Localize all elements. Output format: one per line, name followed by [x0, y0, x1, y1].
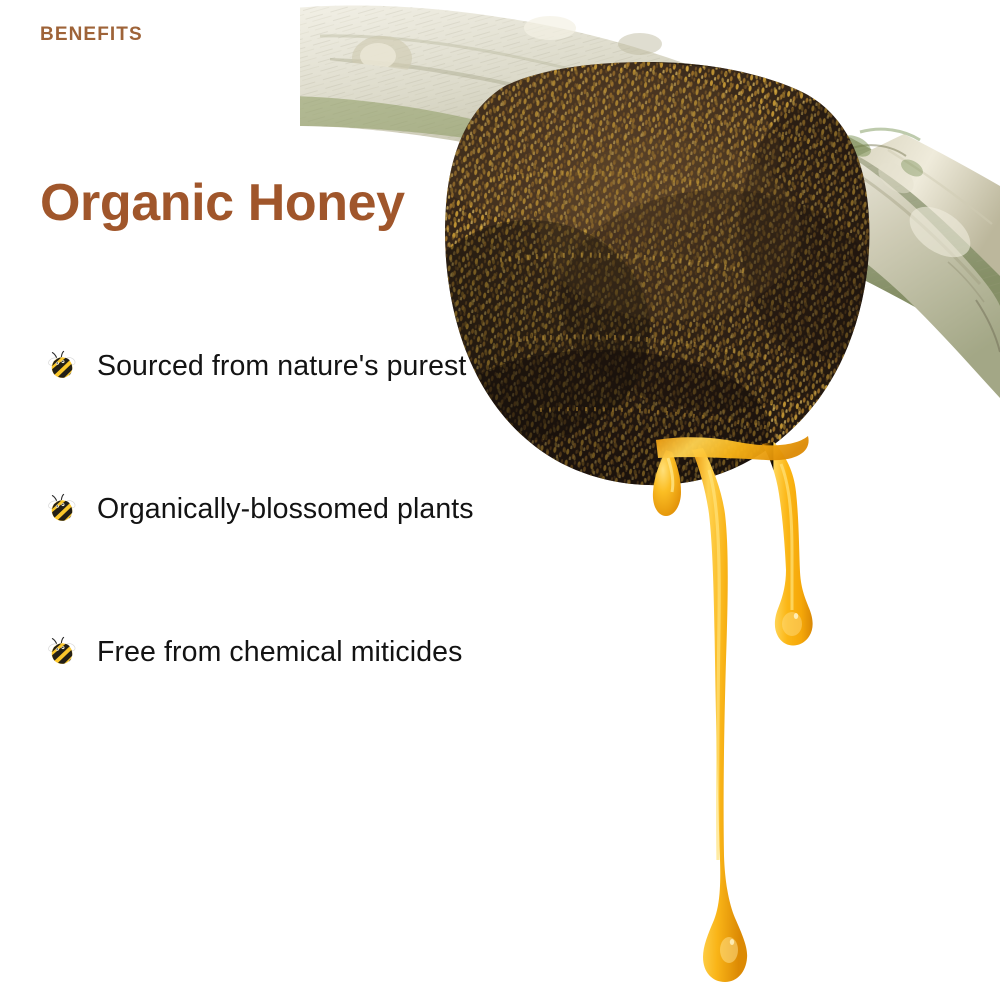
eyebrow-label: BENEFITS — [40, 24, 143, 46]
list-item: Organically-blossomed plants — [40, 473, 560, 545]
bee-icon — [45, 349, 79, 383]
benefit-label: Organically-blossomed plants — [97, 492, 474, 526]
benefits-list: Sourced from nature's purest — [40, 330, 560, 688]
list-item: Sourced from nature's purest — [40, 330, 560, 402]
list-item: Free from chemical miticides — [40, 616, 560, 688]
page-title: Organic Honey — [40, 173, 405, 233]
bee-icon — [45, 635, 79, 669]
poster-canvas: BENEFITS Organic Honey — [0, 0, 1000, 1000]
honey-drips — [653, 420, 813, 982]
benefit-label: Free from chemical miticides — [97, 635, 462, 669]
benefit-label: Sourced from nature's purest — [97, 349, 466, 383]
bee-icon — [45, 492, 79, 526]
